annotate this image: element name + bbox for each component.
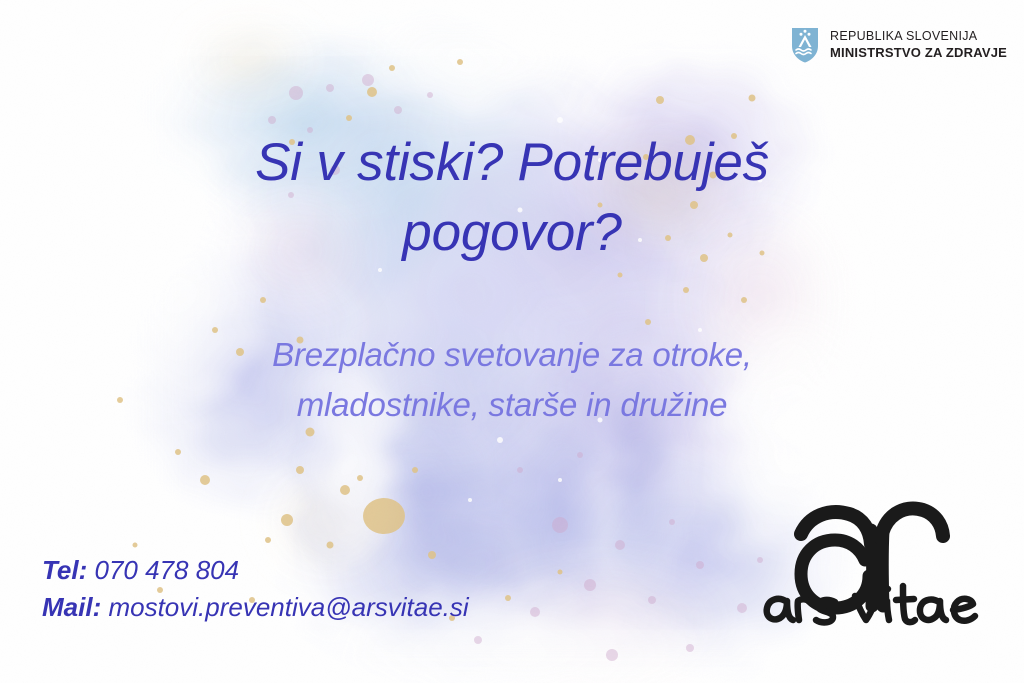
ministry-logo-text: REPUBLIKA SLOVENIJA MINISTRSTVO ZA ZDRAV… bbox=[830, 29, 1007, 61]
tel-label: Tel: bbox=[42, 555, 87, 585]
subhead: Brezplačno svetovanje za otroke, mladost… bbox=[112, 330, 912, 431]
mail-label: Mail: bbox=[42, 592, 101, 622]
contact-row-tel: Tel: 070 478 804 bbox=[42, 552, 469, 589]
ars-vitae-ar-monogram-icon bbox=[801, 508, 943, 608]
ars-vitae-logo-svg bbox=[757, 468, 987, 628]
contact-row-mail: Mail: mostovi.preventiva@arsvitae.si bbox=[42, 589, 469, 626]
mail-value[interactable]: mostovi.preventiva@arsvitae.si bbox=[108, 592, 468, 622]
headline-line-1: Si v stiski? Potrebuješ bbox=[112, 128, 912, 198]
ars-vitae-logo bbox=[757, 468, 987, 628]
headline-line-2: pogovor? bbox=[112, 198, 912, 268]
ministry-logo: REPUBLIKA SLOVENIJA MINISTRSTVO ZA ZDRAV… bbox=[790, 26, 1007, 64]
slovenia-coat-of-arms-icon bbox=[790, 26, 820, 64]
subhead-line-2: mladostnike, starše in družine bbox=[112, 380, 912, 430]
contact-block: Tel: 070 478 804 Mail: mostovi.preventiv… bbox=[42, 552, 469, 626]
headline: Si v stiski? Potrebuješ pogovor? bbox=[112, 128, 912, 268]
poster-canvas: REPUBLIKA SLOVENIJA MINISTRSTVO ZA ZDRAV… bbox=[0, 0, 1024, 683]
ministry-line-republika: REPUBLIKA SLOVENIJA bbox=[830, 29, 1007, 45]
ministry-line-ministrstvo: MINISTRSTVO ZA ZDRAVJE bbox=[830, 45, 1007, 61]
tel-value[interactable]: 070 478 804 bbox=[95, 555, 240, 585]
subhead-line-1: Brezplačno svetovanje za otroke, bbox=[112, 330, 912, 380]
